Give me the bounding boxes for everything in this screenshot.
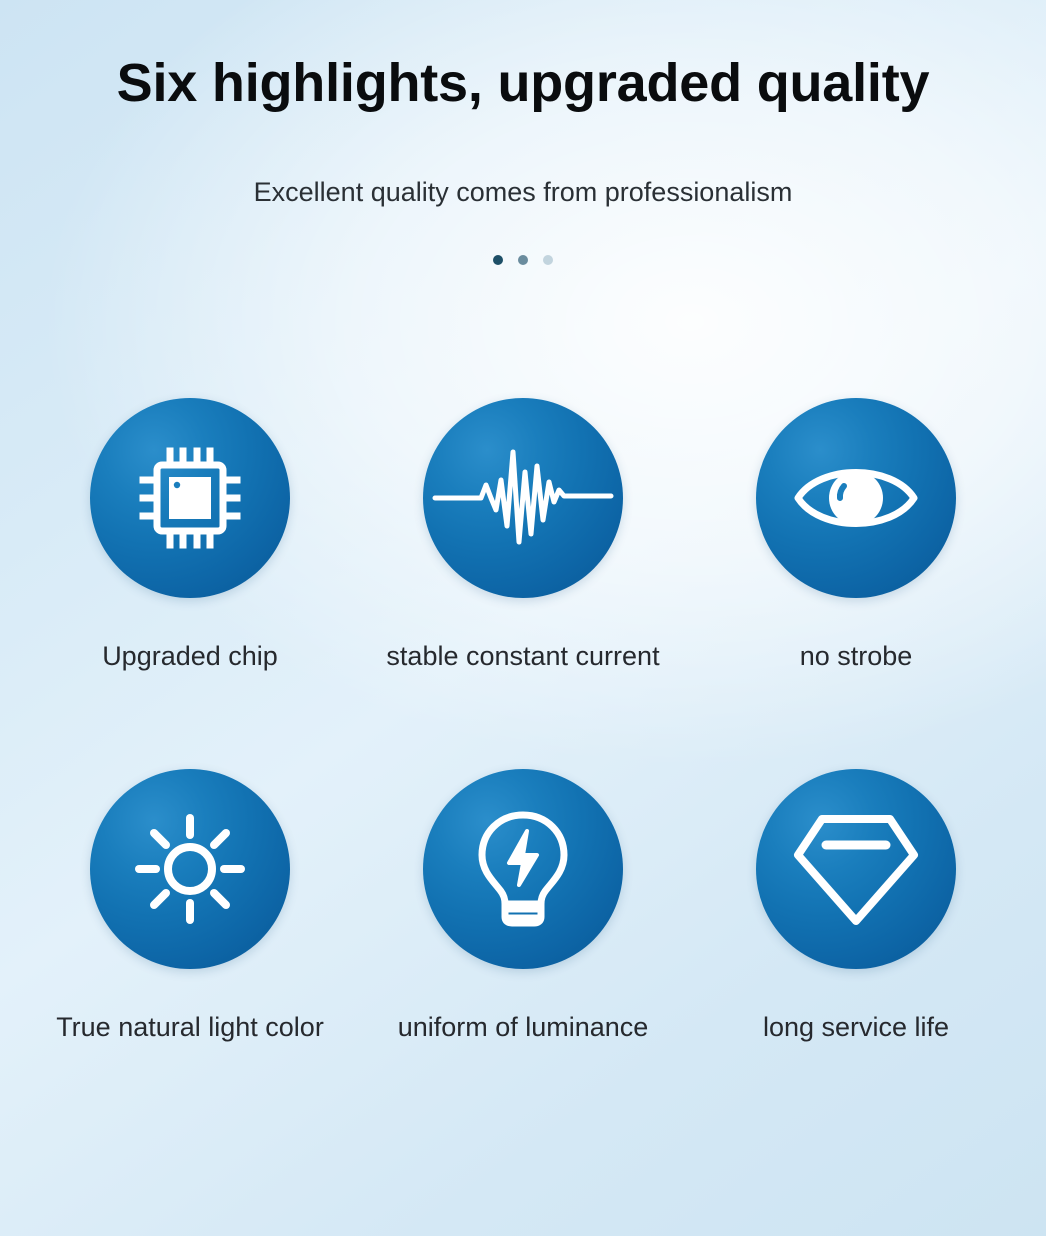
page-title: Six highlights, upgraded quality <box>0 52 1046 114</box>
feature-item-true-natural-light-color[interactable]: True natural light color <box>72 769 308 1043</box>
feature-row-2: True natural light color uniform of <box>0 769 1046 1043</box>
sun-icon <box>135 814 245 924</box>
waveform-icon <box>433 438 613 558</box>
carousel-dot-3[interactable] <box>543 255 553 265</box>
lightbulb-icon <box>471 809 575 929</box>
feature-badge <box>90 398 290 598</box>
feature-row-1: Upgraded chip stable constant current <box>0 398 1046 672</box>
feature-label: no strobe <box>800 640 913 672</box>
feature-item-uniform-of-luminance[interactable]: uniform of luminance <box>405 769 641 1043</box>
feature-badge <box>423 769 623 969</box>
feature-label: uniform of luminance <box>398 1011 649 1043</box>
carousel-dot-1[interactable] <box>493 255 503 265</box>
feature-label: long service life <box>763 1011 949 1043</box>
poster-header: Six highlights, upgraded quality Excelle… <box>0 0 1046 266</box>
carousel-dot-2[interactable] <box>518 255 528 265</box>
carousel-dots[interactable] <box>0 254 1046 266</box>
feature-item-upgraded-chip[interactable]: Upgraded chip <box>72 398 308 672</box>
feature-item-long-service-life[interactable]: long service life <box>738 769 974 1043</box>
page-subtitle: Excellent quality comes from professiona… <box>0 114 1046 208</box>
feature-grid: Upgraded chip stable constant current <box>0 398 1046 1043</box>
feature-label: Upgraded chip <box>102 640 278 672</box>
feature-badge <box>756 769 956 969</box>
feature-item-stable-constant-current[interactable]: stable constant current <box>405 398 641 672</box>
feature-item-no-strobe[interactable]: no strobe <box>738 398 974 672</box>
feature-label: stable constant current <box>386 640 659 672</box>
highlights-poster: Six highlights, upgraded quality Excelle… <box>0 0 1046 1236</box>
feature-badge <box>756 398 956 598</box>
chip-icon <box>134 442 246 554</box>
feature-badge <box>423 398 623 598</box>
feature-label: True natural light color <box>56 1011 324 1043</box>
eye-icon <box>792 448 920 548</box>
feature-badge <box>90 769 290 969</box>
diamond-icon <box>792 811 920 927</box>
